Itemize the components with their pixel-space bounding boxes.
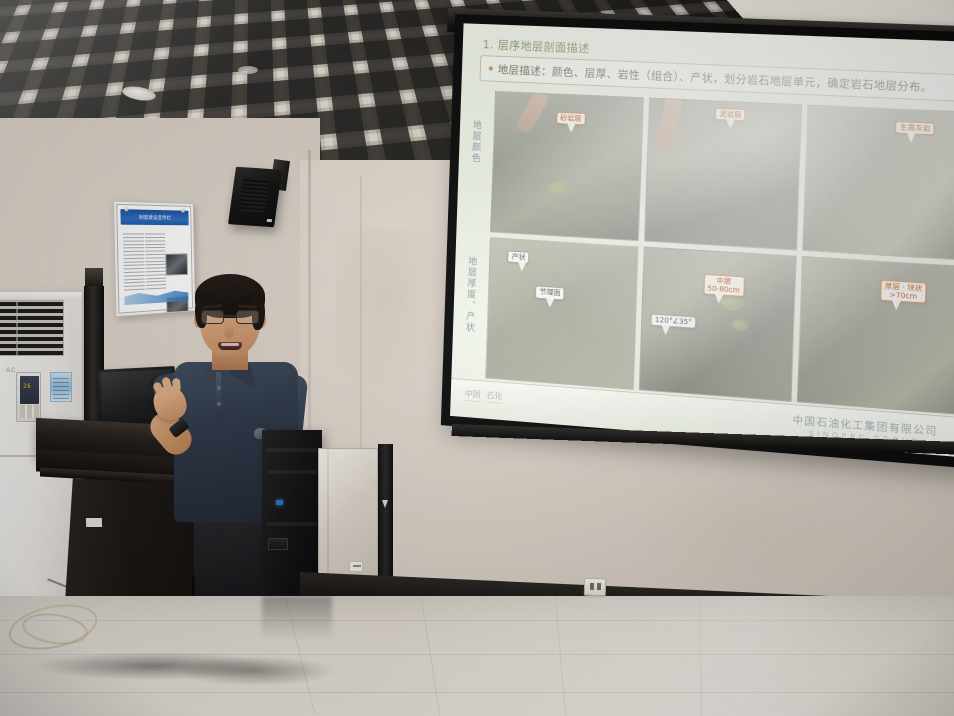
photo-callout: 产状 [507,251,529,264]
air-conditioner-temp-value: 26 [23,383,31,390]
air-conditioner-louvers [0,300,64,356]
poster-heading-text: 制度建设宣传栏 [139,214,171,221]
slide-footer-page-cells: 中国 石化 [464,388,502,404]
presenter-nose [224,324,234,338]
photo-projection-wash [798,257,954,413]
louver-vane [16,301,18,355]
slide-photo: 生屑灰岩 [803,105,954,261]
shirt-button-icon [217,402,221,406]
speaker-grille-icon [239,177,270,212]
shirt-button-icon [217,386,221,390]
lecture-hall-photo: 制度建设宣传栏 AC 26 [0,0,954,716]
poster-photo [165,253,187,275]
presenter-shadow [176,656,336,686]
slide-side-label-2: 地层厚度、产状 [463,256,479,334]
speaker-led-icon [267,219,272,222]
energy-label-lines [53,375,69,399]
slide-side-label-1: 地层颜色 [469,120,483,165]
pillar-clip-icon [382,500,388,508]
photo-callout: 中层 50-80cm [703,274,745,297]
eyeglasses-icon [200,310,260,325]
poster-pin-icon [124,207,128,211]
eyeglass-bridge [224,315,236,317]
rack-front-panel[interactable] [268,538,288,550]
footer-cell-2: 石化 [486,390,502,404]
wall-dark-pillar [378,444,393,596]
poster-pin-icon [181,209,185,213]
slide-subtitle: 地层描述：颜色、层厚、岩性（组合）、产状，划分岩石地层单元，确定岩石地层分布。 [498,61,933,94]
presenter-teeth [221,343,239,346]
power-led-icon [276,500,283,505]
poster-text-column [123,231,145,291]
cabinet-floor-reflection [262,596,332,640]
downlight-icon [238,66,258,74]
photo-callout: 生屑灰岩 [895,121,935,135]
rack-slot [267,470,317,474]
photo-callout: 砂岩层 [556,111,586,125]
projection-screen-surface: 1. 层序地层剖面描述 地层描述：颜色、层厚、岩性（组合）、产状，划分岩石地层单… [450,23,954,457]
presentation-slide: 1. 层序地层剖面描述 地层描述：颜色、层厚、岩性（组合）、产状，划分岩石地层单… [450,23,954,457]
wall-panel-gloss [319,449,377,593]
bullet-icon [489,66,493,70]
photo-projection-wash [645,99,802,250]
footer-cell-1: 中国 [464,388,480,402]
eyeglass-lens [236,310,259,324]
wall-panel [318,448,378,594]
slide-photo: 砂岩层 [490,91,643,241]
air-conditioner-display: 26 [20,376,39,404]
air-conditioner-brand: AC [6,368,16,374]
lectern-asset-label [86,518,102,527]
rack-slot [267,448,317,452]
photo-callout: 泥岩层 [715,107,746,121]
slide-photo-grid: 砂岩层 泥岩层 生屑灰岩 产状 节理面 [485,91,954,415]
power-outlet[interactable] [584,578,606,597]
photo-callout: 节理面 [535,286,565,300]
air-conditioner-top [0,292,82,300]
wall-stain [640,470,860,590]
finger [172,378,181,393]
slide-photo: 厚层 · 块状 >70cm [797,256,954,414]
air-conditioner-energy-label [50,372,72,402]
slide-photo: 泥岩层 [644,98,803,251]
eyeglass-lens [201,310,224,324]
rack-slot [267,522,317,526]
slide-photo: 产状 节理面 [485,237,638,390]
slide-photo: 中层 50-80cm 120°∠35° [638,247,797,402]
presenter-mouth [218,342,242,350]
photo-callout: 厚层 · 块状 >70cm [880,279,927,303]
air-conditioner-buttons[interactable] [20,405,39,418]
wall-speaker [228,167,282,228]
slide-title: 1. 层序地层剖面描述 [482,36,590,56]
poster-heading-banner: 制度建设宣传栏 [120,209,188,225]
wall-column-top [85,268,103,288]
projection-screen[interactable]: 1. 层序地层剖面描述 地层描述：颜色、层厚、岩性（组合）、产状，划分岩石地层单… [441,14,954,469]
presenter-shirt-placket [216,372,221,418]
air-conditioner-control-panel[interactable]: 26 [16,372,41,422]
